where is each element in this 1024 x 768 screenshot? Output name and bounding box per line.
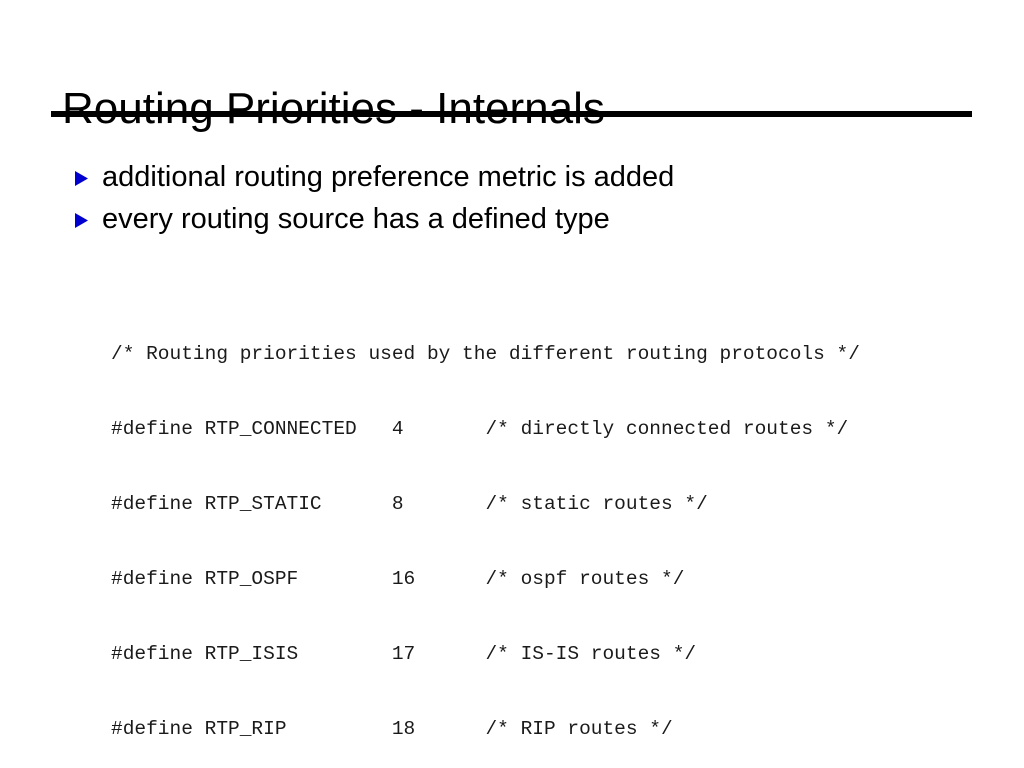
- code-line: /* Routing priorities used by the differ…: [111, 342, 883, 367]
- list-item-label: additional routing preference metric is …: [102, 158, 974, 196]
- code-line: #define RTP_ISIS 17 /* IS-IS routes */: [111, 642, 883, 667]
- list-item-label: every routing source has a defined type: [102, 200, 974, 238]
- bullet-list: additional routing preference metric is …: [74, 157, 974, 241]
- page-title: Routing Priorities - Internals: [62, 81, 962, 137]
- list-item: additional routing preference metric is …: [74, 157, 974, 199]
- title-underline-rule: [51, 111, 972, 117]
- slide-canvas: Routing Priorities - Internals additiona…: [0, 0, 1024, 768]
- code-block: /* Routing priorities used by the differ…: [111, 292, 883, 768]
- list-item: every routing source has a defined type: [74, 199, 974, 241]
- code-line: #define RTP_OSPF 16 /* ospf routes */: [111, 567, 883, 592]
- code-line: #define RTP_STATIC 8 /* static routes */: [111, 492, 883, 517]
- triangle-bullet-icon: [74, 199, 102, 228]
- triangle-bullet-icon: [74, 157, 102, 186]
- code-line: #define RTP_RIP 18 /* RIP routes */: [111, 717, 883, 742]
- code-line: #define RTP_CONNECTED 4 /* directly conn…: [111, 417, 883, 442]
